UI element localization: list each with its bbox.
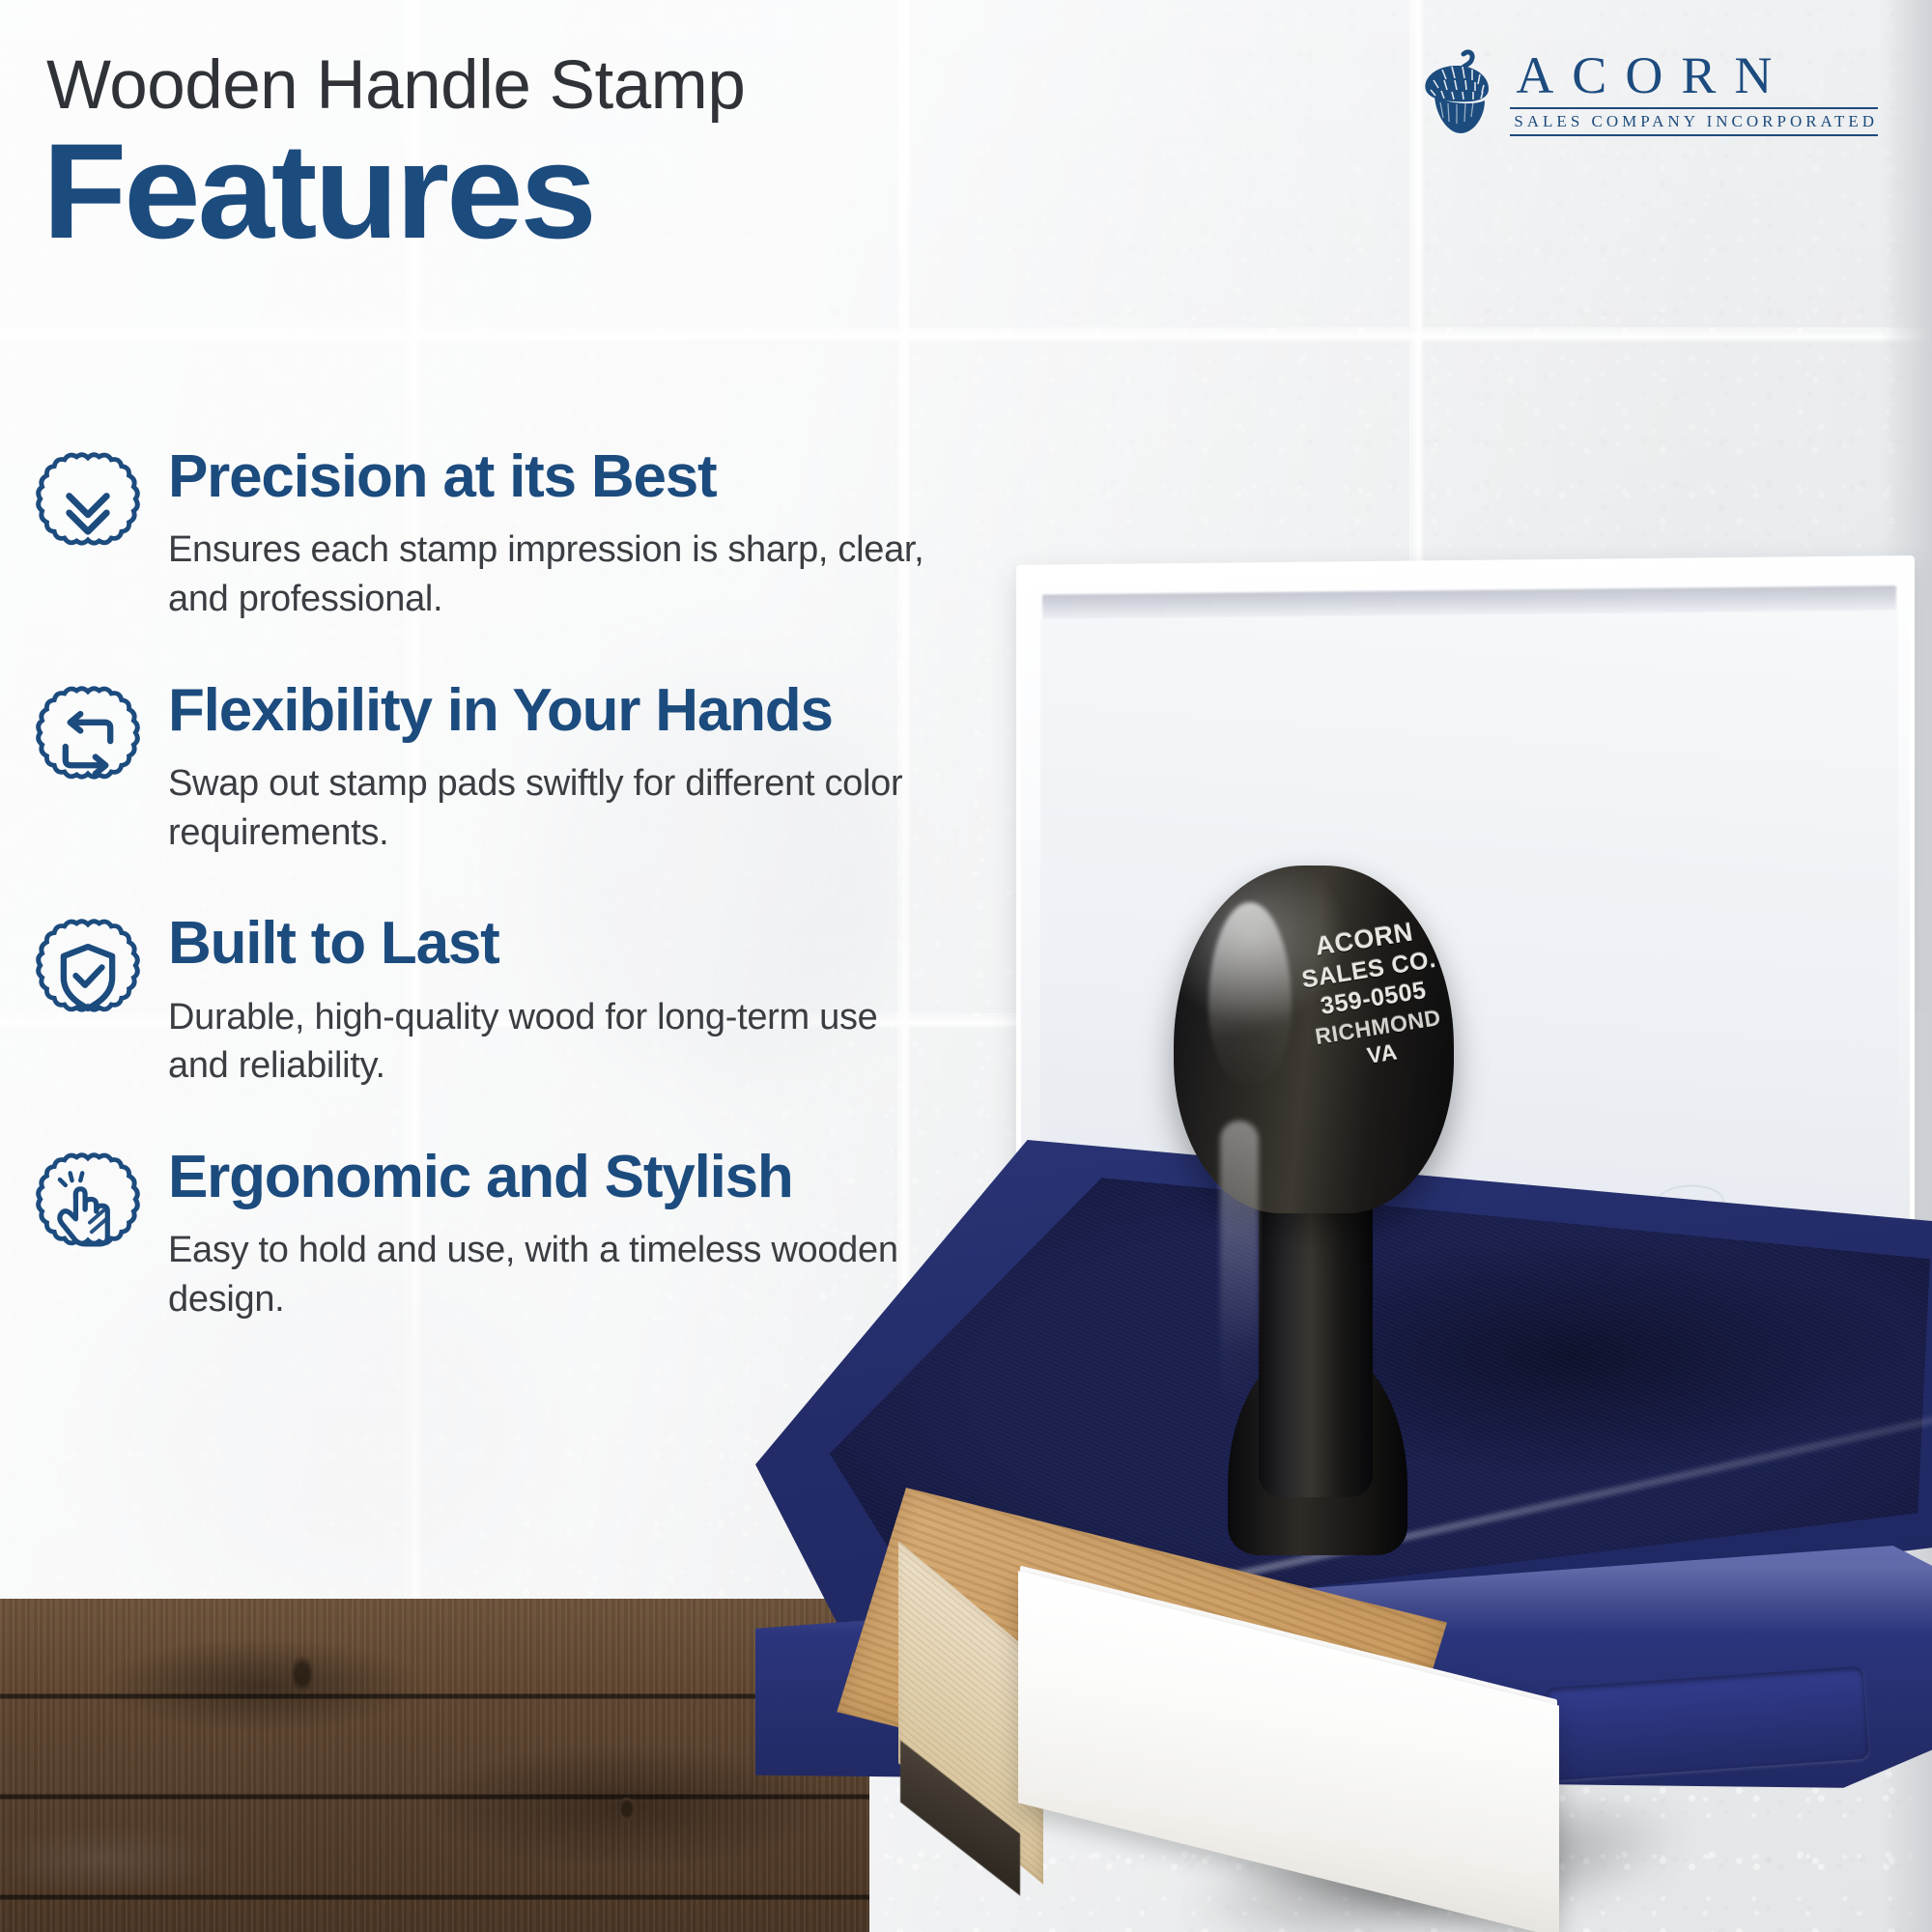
feature-heading: Built to Last xyxy=(168,913,1043,975)
feature-text: Flexibility in Your Hands Swap out stamp… xyxy=(147,676,1043,858)
handle-highlight xyxy=(1220,1121,1259,1410)
feature-item: Precision at its Best Ensures each stamp… xyxy=(0,442,1043,624)
feature-heading: Flexibility in Your Hands xyxy=(168,680,1043,742)
logo-divider-top xyxy=(1510,107,1878,109)
feature-item: Flexibility in Your Hands Swap out stamp… xyxy=(0,676,1043,858)
wood-knot xyxy=(290,1655,315,1693)
shield-check-badge-icon xyxy=(32,918,144,1037)
acorn-icon xyxy=(1417,48,1496,137)
feature-icon-badge xyxy=(29,682,147,808)
feature-item: Built to Last Durable, high-quality wood… xyxy=(0,909,1043,1091)
page-title: Features xyxy=(43,124,594,259)
double-chevron-down-badge-icon xyxy=(32,451,144,571)
infographic-canvas: Wooden Handle Stamp Features ACORN SALES… xyxy=(0,0,1932,1932)
product-image: ACORN SALES CO. 359-0505 RICHMOND VA xyxy=(966,502,1932,1932)
feature-body: Ensures each stamp impression is sharp, … xyxy=(168,526,941,623)
feature-icon-badge xyxy=(29,1149,147,1274)
wood-knot xyxy=(618,1797,636,1822)
feature-text: Built to Last Durable, high-quality wood… xyxy=(147,909,1043,1091)
stamp-handle: ACORN SALES CO. 359-0505 RICHMOND VA xyxy=(1174,667,1463,1517)
feature-icon-badge xyxy=(29,915,147,1040)
tap-hand-badge-icon xyxy=(32,1151,144,1271)
wood-floor xyxy=(0,1599,869,1932)
logo-wordmark: ACORN SALES COMPANY INCORPORATED xyxy=(1510,49,1878,136)
logo-word: ACORN xyxy=(1510,49,1878,101)
brand-logo: ACORN SALES COMPANY INCORPORATED xyxy=(1417,48,1878,137)
feature-heading: Precision at its Best xyxy=(168,446,1043,508)
feature-body: Durable, high-quality wood for long-term… xyxy=(168,993,941,1091)
logo-divider-bottom xyxy=(1510,134,1878,136)
feature-text: Precision at its Best Ensures each stamp… xyxy=(147,442,1043,624)
logo-subtitle: SALES COMPANY INCORPORATED xyxy=(1510,113,1878,129)
feature-body: Swap out stamp pads swiftly for differen… xyxy=(168,759,941,857)
feature-icon-badge xyxy=(29,448,147,574)
page-eyebrow: Wooden Handle Stamp xyxy=(46,50,745,122)
swap-arrows-badge-icon xyxy=(32,685,144,805)
